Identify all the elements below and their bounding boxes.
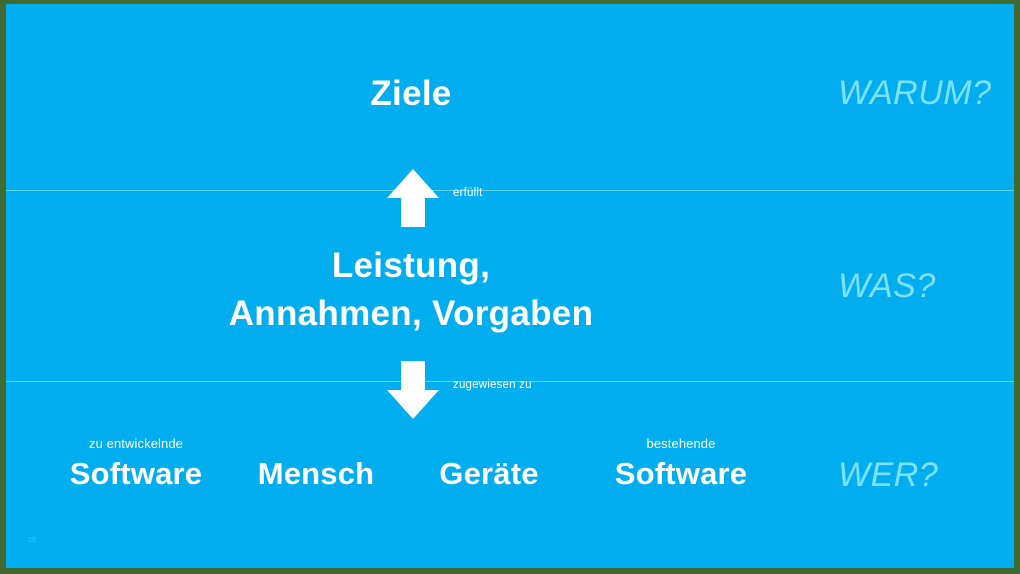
divider-line-top — [6, 190, 1014, 191]
connector-up-group: erfüllt — [385, 167, 441, 229]
resource-item-geraete: Geräte — [414, 436, 564, 496]
question-label-was: WAS? — [838, 267, 936, 306]
arrow-up-icon — [385, 167, 441, 229]
resource-name: Mensch — [241, 452, 391, 496]
connector-down-group: zugewiesen zu — [385, 359, 441, 421]
resource-item-mensch: Mensch — [241, 436, 391, 496]
question-label-warum: WARUM? — [838, 74, 992, 113]
page-number: 20 — [28, 537, 36, 544]
resource-name: Software — [591, 452, 771, 496]
resource-kicker: bestehende — [591, 436, 771, 452]
resource-name: Software — [46, 452, 226, 496]
resource-name: Geräte — [414, 452, 564, 496]
requirements-title: Leistung, Annahmen, Vorgaben — [6, 242, 816, 338]
resource-item-software-existing: bestehende Software — [591, 436, 771, 496]
requirements-title-line2: Annahmen, Vorgaben — [6, 290, 816, 338]
resource-kicker: zu entwickelnde — [46, 436, 226, 452]
slide-canvas: Ziele WARUM? erfüllt Leistung, Annahmen,… — [6, 4, 1014, 568]
goals-title: Ziele — [6, 74, 816, 114]
resource-item-software-new: zu entwickelnde Software — [46, 436, 226, 496]
requirements-title-line1: Leistung, — [6, 242, 816, 290]
arrow-down-icon — [385, 359, 441, 421]
slide-frame: Ziele WARUM? erfüllt Leistung, Annahmen,… — [0, 0, 1020, 574]
connector-up-label: erfüllt — [453, 187, 483, 199]
question-label-wer: WER? — [838, 456, 938, 495]
connector-down-label: zugewiesen zu — [453, 379, 532, 391]
resource-row: zu entwickelnde Software Mensch Geräte b… — [46, 428, 796, 518]
